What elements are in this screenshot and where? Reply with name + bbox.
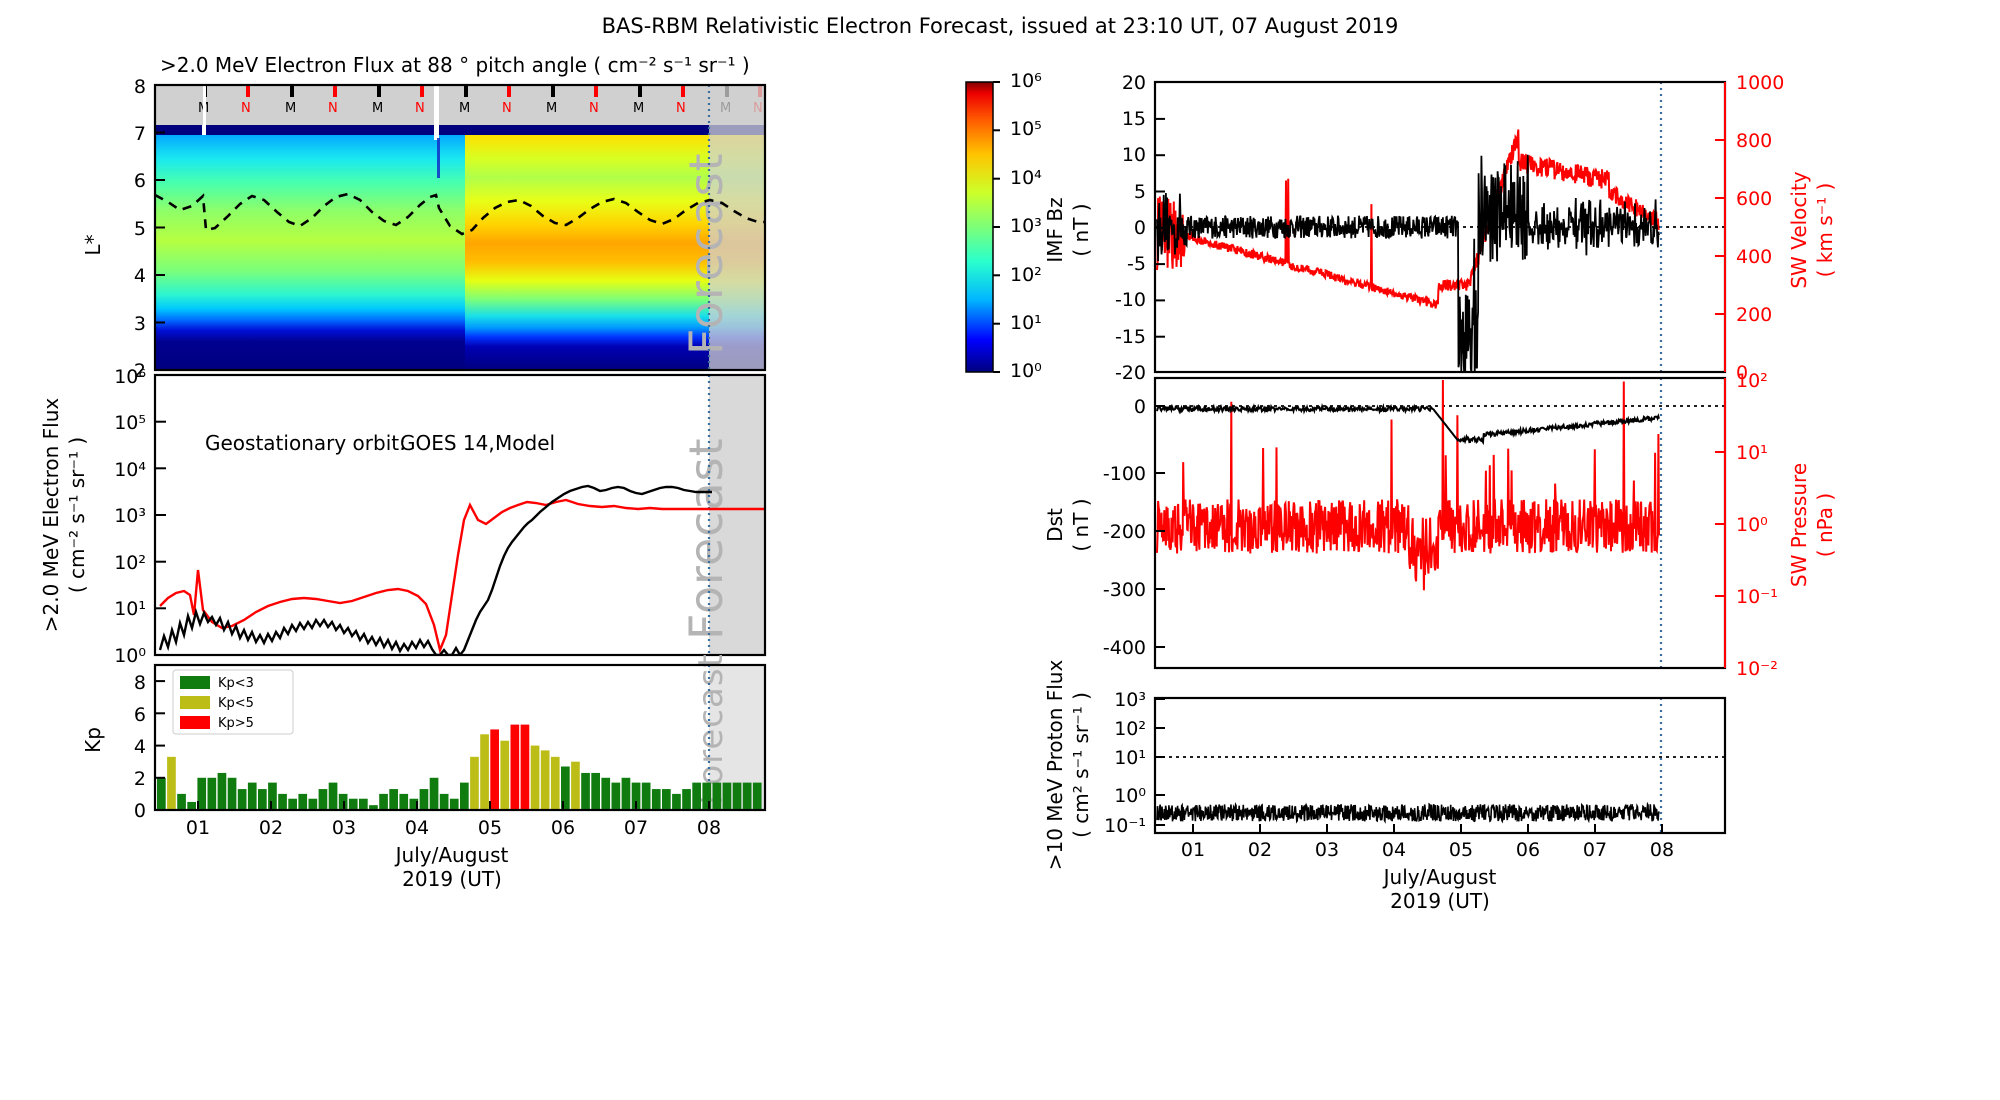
imf-yticks-right: 0 200 400 600 800 1000 — [1736, 72, 1784, 384]
kp-bar — [177, 794, 186, 810]
kp-yticks: 0 2 4 6 8 — [134, 672, 146, 822]
proton-xticklabels: 01 02 03 04 05 06 07 08 — [1181, 839, 1674, 861]
svg-text:05: 05 — [1449, 839, 1473, 861]
kp-bar — [622, 778, 631, 810]
svg-text:10¹: 10¹ — [1736, 442, 1768, 464]
svg-text:03: 03 — [332, 817, 356, 839]
kp-bar — [379, 794, 388, 810]
kp-bar — [258, 789, 267, 810]
svg-text:-15: -15 — [1115, 326, 1146, 348]
kp-bar — [480, 734, 489, 810]
kp-bar — [278, 794, 287, 810]
svg-text:10⁻¹: 10⁻¹ — [1104, 815, 1146, 837]
kp-bar — [541, 750, 550, 810]
svg-text:07: 07 — [1583, 839, 1607, 861]
right-column: -20 -15 -10 -5 0 5 10 15 20 IMF Bz ( nT … — [1000, 50, 2000, 1100]
svg-text:-400: -400 — [1103, 637, 1146, 659]
dst-ylabel-left-1: Dst — [1043, 508, 1067, 542]
svg-text:15: 15 — [1122, 108, 1146, 130]
kp-bar — [167, 757, 176, 810]
svg-text:-100: -100 — [1103, 463, 1146, 485]
kp-legend-swatch-0 — [180, 676, 210, 689]
svg-text:0: 0 — [1134, 396, 1146, 418]
kp-bar — [238, 789, 247, 810]
kp-bar — [551, 757, 560, 810]
kp-bar — [288, 799, 297, 810]
kp-legend-label-0: Kp<3 — [218, 676, 254, 691]
svg-text:08: 08 — [1650, 839, 1674, 861]
kp-bar — [500, 741, 509, 810]
kp-bar — [187, 802, 196, 810]
imf-ylabel-left-2: ( nT ) — [1069, 203, 1093, 256]
kp-bar — [470, 757, 479, 810]
svg-text:10⁻¹: 10⁻¹ — [1736, 586, 1778, 608]
svg-text:05: 05 — [478, 817, 502, 839]
svg-text:10⁰: 10⁰ — [1114, 785, 1146, 807]
kp-legend-swatch-1 — [180, 696, 210, 709]
kp-bar — [430, 778, 439, 810]
kp-bar — [652, 789, 661, 810]
imf-ylabel-right-1: SW Velocity — [1787, 171, 1811, 288]
forecast-watermark-kp: Forecast — [691, 653, 731, 805]
dst-yticks-left: -400 -300 -200 -100 0 — [1103, 396, 1146, 659]
kp-bar — [490, 729, 499, 810]
svg-text:03: 03 — [1315, 839, 1339, 861]
svg-text:6: 6 — [134, 704, 146, 726]
svg-text:04: 04 — [1382, 839, 1406, 861]
svg-text:10³: 10³ — [1114, 689, 1146, 711]
proton-xlabel-1: July/August — [1382, 865, 1497, 889]
svg-text:1000: 1000 — [1736, 72, 1784, 94]
kp-bar — [359, 799, 368, 810]
kp-panel: Forecast 0 2 4 6 8 Kp Kp<3 Kp<5 Kp>5 01 … — [0, 50, 1000, 1100]
proton-xlabel-2: 2019 (UT) — [1390, 889, 1490, 913]
kp-bar — [682, 789, 691, 810]
kp-bar — [601, 778, 610, 810]
svg-text:10²: 10² — [1736, 370, 1768, 392]
kp-bar — [612, 783, 621, 810]
kp-bar — [389, 789, 398, 810]
svg-text:06: 06 — [551, 817, 575, 839]
kp-bar — [692, 783, 701, 810]
svg-text:06: 06 — [1516, 839, 1540, 861]
page-title: BAS-RBM Relativistic Electron Forecast, … — [0, 14, 2000, 38]
kp-bar — [329, 783, 338, 810]
kp-bar — [753, 783, 762, 810]
svg-text:-200: -200 — [1103, 521, 1146, 543]
proton-yticks: 10⁻¹ 10⁰ 10¹ 10² 10³ — [1104, 689, 1146, 837]
svg-text:200: 200 — [1736, 304, 1772, 326]
svg-text:10¹: 10¹ — [1114, 747, 1146, 769]
kp-legend: Kp<3 Kp<5 Kp>5 — [173, 670, 293, 734]
kp-bar — [662, 789, 671, 810]
imf-ylabel-left-1: IMF Bz — [1043, 197, 1067, 262]
dst-ylabel-right-1: SW Pressure — [1787, 463, 1811, 587]
svg-text:-20: -20 — [1115, 362, 1146, 384]
svg-text:10: 10 — [1122, 144, 1146, 166]
svg-text:07: 07 — [624, 817, 648, 839]
kp-bar — [440, 794, 449, 810]
kp-bar — [460, 783, 469, 810]
kp-bar — [228, 778, 237, 810]
svg-text:-5: -5 — [1127, 253, 1146, 275]
svg-text:10⁻²: 10⁻² — [1736, 658, 1778, 680]
kp-bar — [521, 725, 530, 810]
kp-bar — [591, 773, 600, 810]
kp-bar — [268, 783, 277, 810]
svg-text:4: 4 — [134, 736, 146, 758]
svg-text:02: 02 — [259, 817, 283, 839]
kp-legend-label-1: Kp<5 — [218, 696, 254, 711]
kp-bar — [208, 778, 217, 810]
proton-ylabel-1: >10 MeV Proton Flux — [1043, 660, 1067, 871]
svg-text:20: 20 — [1122, 72, 1146, 94]
svg-text:0: 0 — [134, 800, 146, 822]
kp-legend-swatch-2 — [180, 716, 210, 729]
svg-text:02: 02 — [1248, 839, 1272, 861]
kp-bar — [642, 783, 651, 810]
kp-bar — [723, 783, 732, 810]
imf-yticks-left: -20 -15 -10 -5 0 5 10 15 20 — [1115, 72, 1146, 384]
kp-xticklabels: 01 02 03 04 05 06 07 08 — [186, 817, 721, 839]
kp-bar — [713, 783, 722, 810]
kp-bar — [218, 773, 227, 810]
kp-bar — [531, 746, 540, 810]
kp-bar — [349, 799, 358, 810]
imf-ylabel-right-2: ( km s⁻¹ ) — [1813, 183, 1837, 278]
svg-text:04: 04 — [405, 817, 429, 839]
svg-text:01: 01 — [186, 817, 210, 839]
kp-bar — [399, 794, 408, 810]
svg-text:8: 8 — [134, 672, 146, 694]
svg-text:2: 2 — [134, 768, 146, 790]
dst-ylabel-left-2: ( nT ) — [1069, 498, 1093, 551]
svg-text:800: 800 — [1736, 130, 1772, 152]
svg-text:08: 08 — [697, 817, 721, 839]
kp-bar — [420, 789, 429, 810]
kp-bar — [511, 725, 520, 810]
kp-bar — [571, 762, 580, 810]
svg-text:-300: -300 — [1103, 579, 1146, 601]
svg-text:10²: 10² — [1114, 718, 1146, 740]
proton-ylabel-2: ( cm² s⁻¹ sr⁻¹ ) — [1069, 692, 1093, 838]
svg-text:-10: -10 — [1115, 289, 1146, 311]
svg-text:0: 0 — [1134, 217, 1146, 239]
kp-bar — [309, 799, 318, 810]
kp-bar — [319, 789, 328, 810]
dst-ylabel-right-2: ( nPa ) — [1813, 493, 1837, 557]
kp-xlabel-1: July/August — [394, 843, 509, 867]
kp-xlabel-2: 2019 (UT) — [402, 867, 502, 891]
svg-text:01: 01 — [1181, 839, 1205, 861]
dst-yticks-right: 10⁻² 10⁻¹ 10⁰ 10¹ 10² — [1736, 370, 1778, 680]
kp-bar — [450, 799, 459, 810]
kp-legend-label-2: Kp>5 — [218, 716, 254, 731]
kp-bar — [298, 794, 307, 810]
kp-bar — [733, 783, 742, 810]
kp-bar — [743, 783, 752, 810]
svg-text:10⁰: 10⁰ — [1736, 514, 1768, 536]
kp-bar — [672, 794, 681, 810]
svg-text:600: 600 — [1736, 188, 1772, 210]
kp-ylabel: Kp — [81, 727, 105, 753]
kp-bar — [581, 773, 590, 810]
svg-text:400: 400 — [1736, 246, 1772, 268]
kp-bar — [157, 778, 166, 810]
kp-bar — [248, 783, 257, 810]
svg-text:5: 5 — [1134, 181, 1146, 203]
